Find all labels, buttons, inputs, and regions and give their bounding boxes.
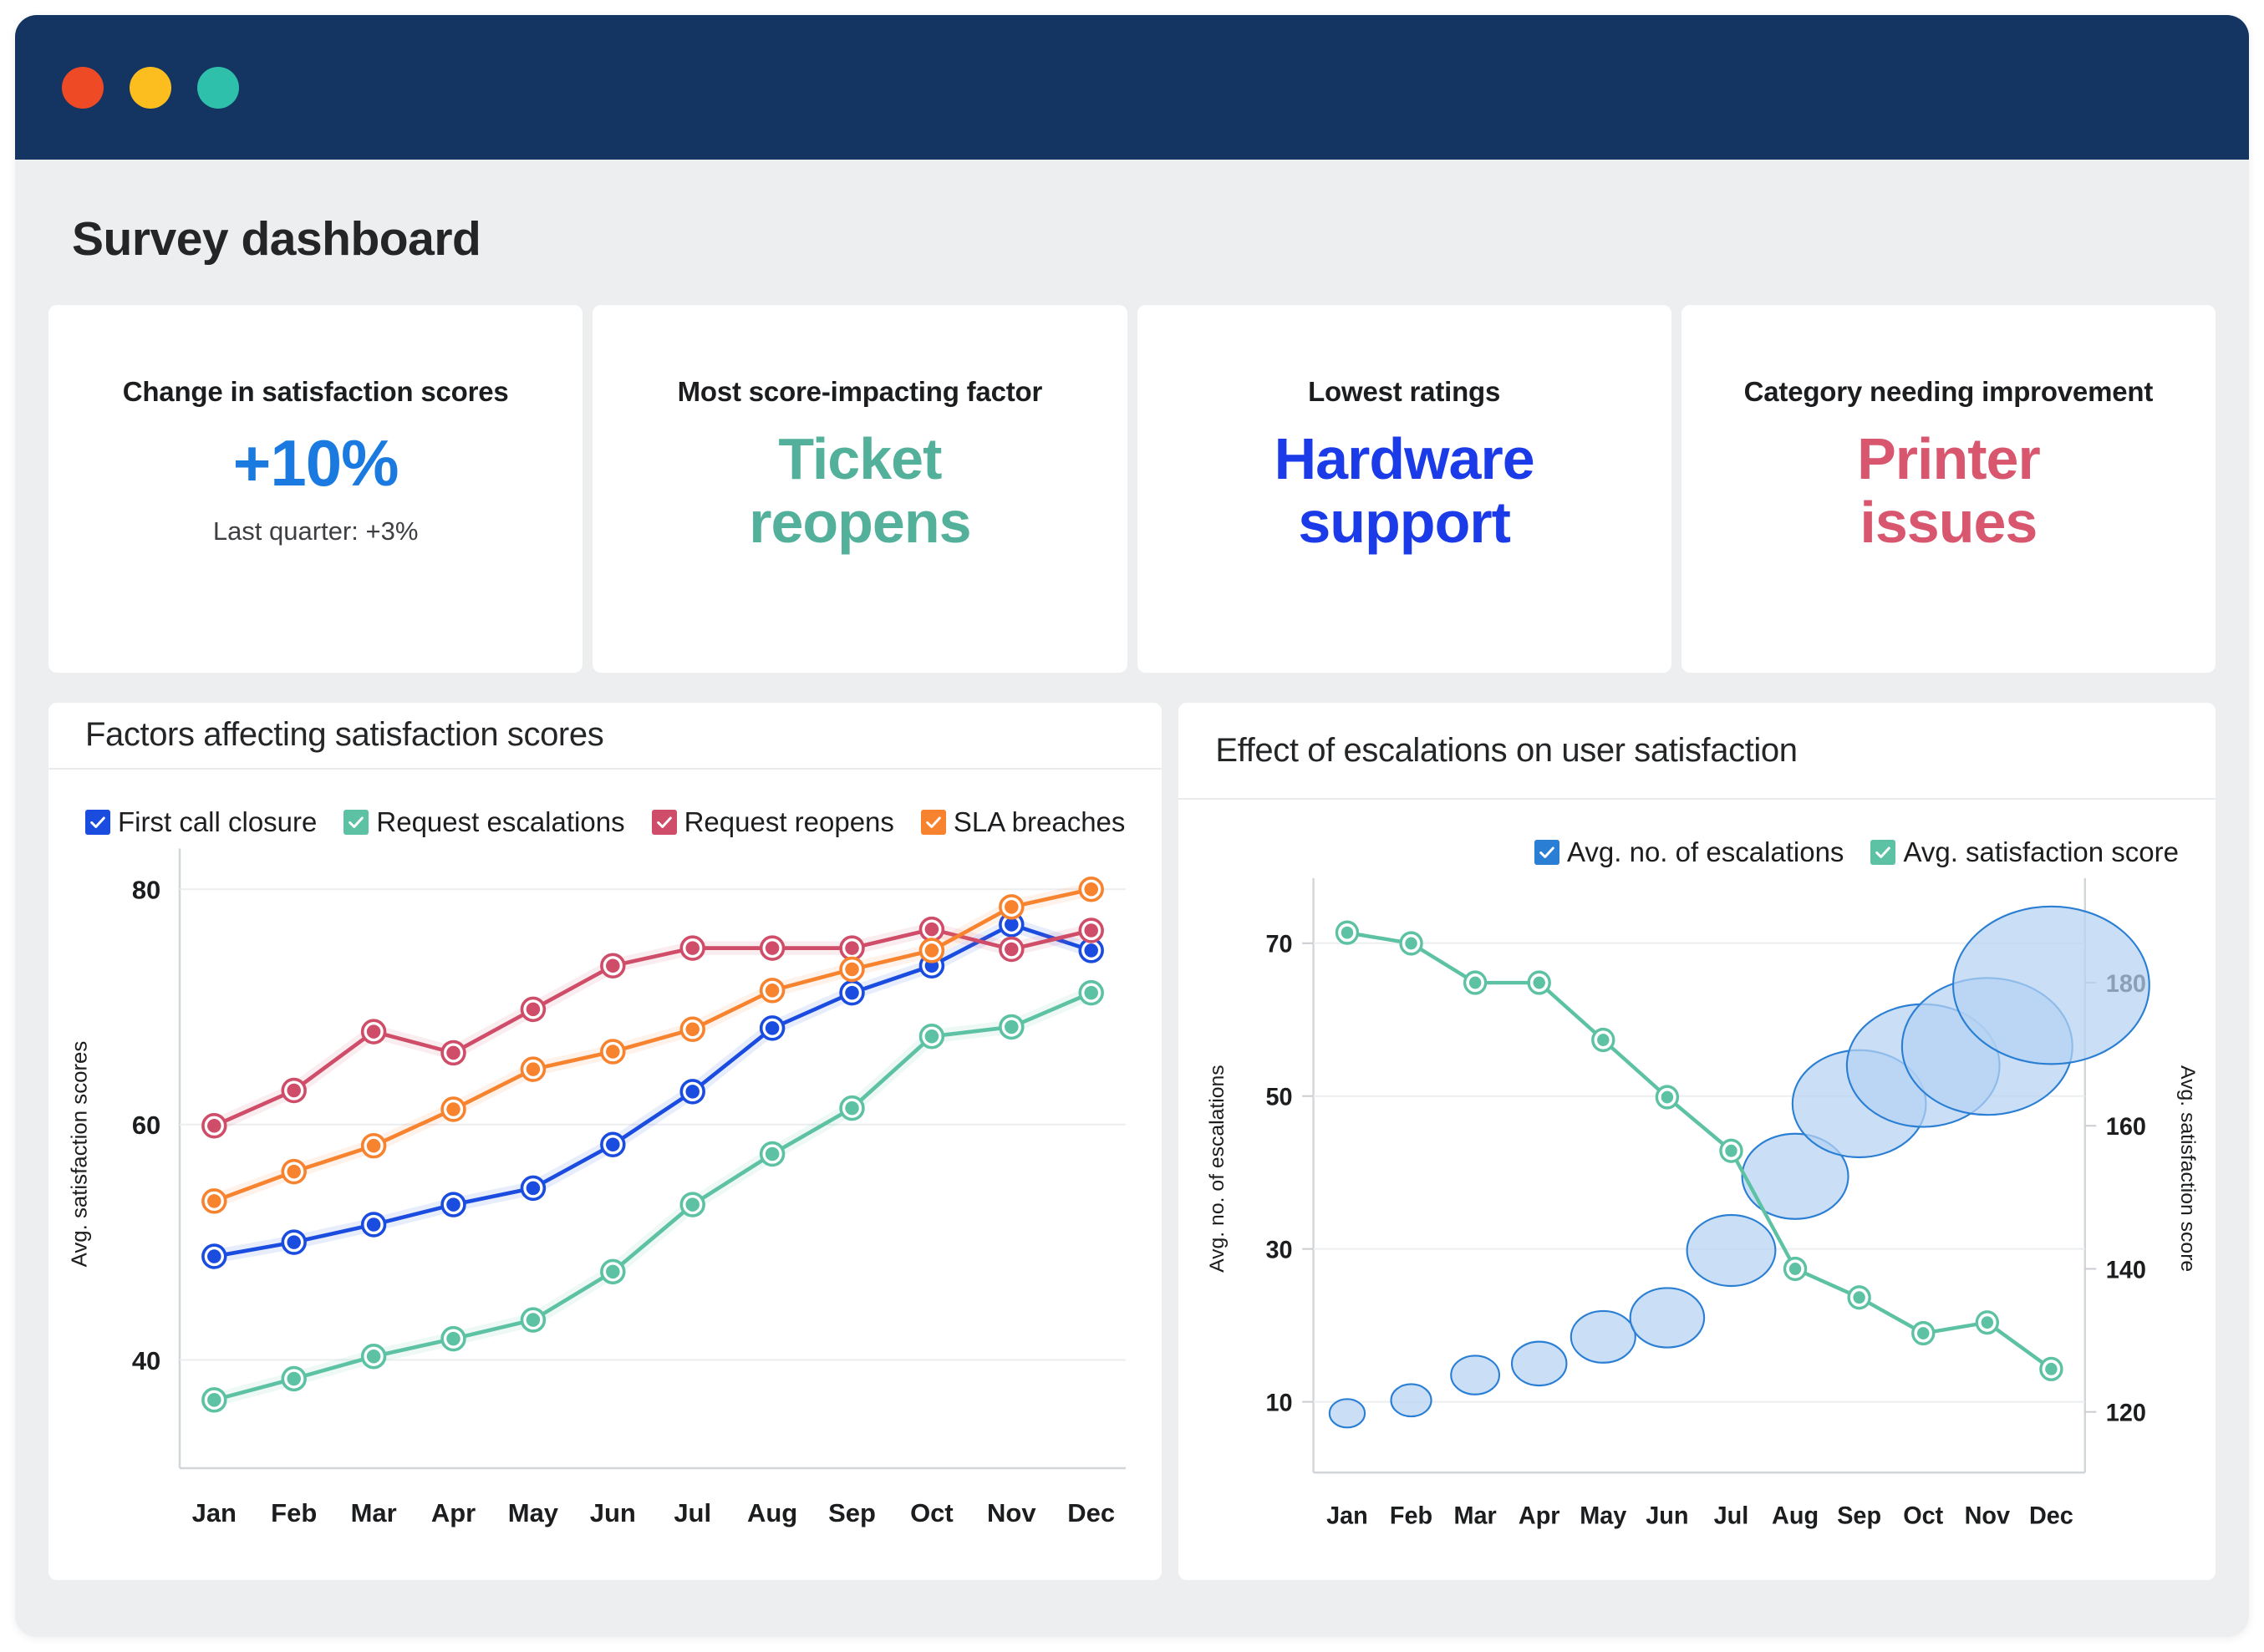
checkbox-checked-icon[interactable]	[1534, 840, 1559, 865]
x-axis-tick-label: Oct	[1904, 1502, 1944, 1529]
x-axis-tick-label: Jul	[674, 1498, 711, 1527]
data-point[interactable]	[287, 1083, 301, 1097]
kpi-value: Printer issues	[1819, 428, 2078, 554]
data-point[interactable]	[207, 1249, 221, 1263]
data-point[interactable]	[1084, 882, 1098, 897]
chart-card-effect-of-escalations: Effect of escalations on user satisfacti…	[1178, 703, 2216, 1580]
data-point[interactable]	[287, 1371, 301, 1385]
chart-title: Factors affecting satisfaction scores	[85, 716, 603, 754]
x-axis-tick-label: Oct	[910, 1498, 954, 1527]
chart-card-factors-affecting-satisfaction-scores: Factors affecting satisfaction scores Fi…	[48, 703, 1162, 1580]
y-axis-tick-label: 40	[132, 1346, 160, 1375]
bubble-data-point[interactable]	[1953, 907, 2150, 1065]
data-point[interactable]	[1084, 923, 1098, 938]
kpi-card-category-needing-improvement[interactable]: Category needing improvement Printer iss…	[1681, 305, 2216, 673]
x-axis-tick-label: Sep	[828, 1498, 876, 1527]
data-point[interactable]	[1005, 917, 1019, 932]
kpi-card-change-in-satisfaction-scores[interactable]: Change in satisfaction scores +10% Last …	[48, 305, 583, 673]
bubble-data-point[interactable]	[1391, 1384, 1432, 1416]
legend-item-label: Request escalations	[376, 806, 624, 838]
checkbox-checked-icon[interactable]	[85, 810, 110, 835]
data-point[interactable]	[446, 1102, 460, 1116]
legend-item-sla-breaches[interactable]: SLA breaches	[921, 806, 1125, 838]
kpi-subtext: Last quarter: +3%	[213, 516, 419, 546]
chart-legend-right: Avg. no. of escalationsAvg. satisfaction…	[1178, 800, 2216, 868]
y-axis-tick-label: 50	[1266, 1083, 1293, 1111]
data-point[interactable]	[1084, 943, 1098, 958]
data-point[interactable]	[766, 941, 780, 955]
chart-legend-left: First call closureRequest escalationsReq…	[48, 770, 1162, 838]
x-axis-tick-label: Dec	[2029, 1502, 2073, 1529]
kpi-value: +10%	[233, 428, 399, 498]
data-point[interactable]	[527, 1181, 541, 1195]
y-axis-title: Avg. satisfaction scores	[68, 1040, 91, 1267]
data-point[interactable]	[207, 1393, 221, 1407]
y-axis-tick-label: 70	[1266, 930, 1293, 958]
y2-axis-tick-label: 120	[2106, 1399, 2146, 1426]
bubble-data-point[interactable]	[1330, 1399, 1365, 1427]
data-point[interactable]	[925, 923, 939, 937]
checkbox-checked-icon[interactable]	[343, 810, 369, 835]
legend-item-label: Request reopens	[684, 806, 894, 838]
data-point[interactable]	[367, 1350, 381, 1364]
data-point[interactable]	[207, 1194, 221, 1208]
minimize-window-button[interactable]	[130, 67, 171, 109]
data-point[interactable]	[766, 984, 780, 998]
chart-title: Effect of escalations on user satisfacti…	[1215, 732, 1797, 770]
x-axis-tick-label: May	[508, 1498, 559, 1527]
x-axis-tick-label: Feb	[1390, 1502, 1432, 1529]
close-window-button[interactable]	[62, 67, 104, 109]
x-axis-tick-label: Mar	[1454, 1502, 1497, 1529]
data-point[interactable]	[606, 958, 620, 973]
data-point[interactable]	[685, 1085, 700, 1099]
x-axis-tick-label: Aug	[747, 1498, 797, 1527]
data-point[interactable]	[1005, 942, 1019, 956]
data-point[interactable]	[1341, 927, 1353, 939]
x-axis-tick-label: Jan	[192, 1498, 237, 1527]
legend-item-avg-no-of-escalations[interactable]: Avg. no. of escalations	[1534, 836, 1844, 868]
data-point[interactable]	[766, 1147, 780, 1161]
x-axis-tick-label: Jan	[1327, 1502, 1369, 1529]
data-point[interactable]	[1789, 1263, 1801, 1275]
data-point[interactable]	[925, 1029, 939, 1044]
checkbox-checked-icon[interactable]	[652, 810, 677, 835]
data-point[interactable]	[1084, 986, 1098, 1000]
data-point[interactable]	[1005, 900, 1019, 914]
legend-item-avg-satisfaction-score[interactable]: Avg. satisfaction score	[1870, 836, 2179, 868]
data-point[interactable]	[606, 1137, 620, 1151]
kpi-value: Hardware support	[1237, 428, 1571, 554]
data-point[interactable]	[367, 1139, 381, 1153]
chart-row: Factors affecting satisfaction scores Fi…	[48, 703, 2216, 1580]
x-axis-tick-label: Nov	[987, 1498, 1036, 1527]
x-axis-tick-label: Apr	[431, 1498, 476, 1527]
kpi-label: Lowest ratings	[1308, 376, 1500, 408]
data-point[interactable]	[1597, 1034, 1609, 1046]
data-point[interactable]	[446, 1332, 460, 1346]
y2-axis-tick-label: 160	[2106, 1113, 2146, 1141]
data-point[interactable]	[845, 986, 859, 1000]
data-point[interactable]	[527, 1062, 541, 1076]
legend-item-request-escalations[interactable]: Request escalations	[343, 806, 624, 838]
data-point[interactable]	[1854, 1291, 1865, 1304]
data-point[interactable]	[606, 1264, 620, 1278]
bubble-data-point[interactable]	[1512, 1342, 1566, 1386]
line-series-first-call-closure	[214, 924, 1091, 1256]
line-chart-plot-area: 406080Avg. satisfaction scoresJanFebMarA…	[48, 838, 1162, 1580]
line-glow	[214, 924, 1091, 1256]
bubble-data-point[interactable]	[1631, 1288, 1704, 1347]
app-window: Survey dashboard Change in satisfaction …	[15, 15, 2249, 1637]
y-axis-tick-label: 10	[1266, 1389, 1293, 1416]
data-point[interactable]	[1469, 977, 1481, 989]
bubble-data-point[interactable]	[1452, 1355, 1500, 1394]
data-point[interactable]	[367, 1024, 381, 1039]
x-axis-tick-label: Apr	[1519, 1502, 1560, 1529]
kpi-card-lowest-ratings[interactable]: Lowest ratings Hardware support	[1137, 305, 1671, 673]
x-axis-tick-label: Feb	[271, 1498, 317, 1527]
data-point[interactable]	[925, 943, 939, 958]
data-point[interactable]	[1726, 1145, 1737, 1157]
legend-item-label: First call closure	[118, 806, 317, 838]
data-point[interactable]	[446, 1045, 460, 1060]
x-axis-tick-label: Jul	[1714, 1502, 1749, 1529]
data-point[interactable]	[287, 1235, 301, 1249]
y-axis-tick-label: 60	[132, 1111, 160, 1140]
y2-axis-tick-label: 140	[2106, 1256, 2146, 1283]
data-point[interactable]	[685, 941, 700, 955]
x-axis-tick-label: Jun	[590, 1498, 636, 1527]
data-point[interactable]	[1534, 977, 1545, 989]
data-point[interactable]	[207, 1119, 221, 1133]
x-axis-tick-label: Jun	[1646, 1502, 1689, 1529]
data-point[interactable]	[845, 962, 859, 976]
checkbox-checked-icon[interactable]	[921, 810, 946, 835]
data-point[interactable]	[1005, 1019, 1019, 1034]
bubble-data-point[interactable]	[1571, 1311, 1636, 1363]
kpi-label: Change in satisfaction scores	[123, 376, 509, 408]
y-axis-title: Avg. no. of escalations	[1207, 1065, 1229, 1273]
checkbox-checked-icon[interactable]	[1870, 840, 1895, 865]
bubble-data-point[interactable]	[1687, 1215, 1776, 1286]
legend-item-label: Avg. no. of escalations	[1567, 836, 1844, 868]
data-point[interactable]	[287, 1165, 301, 1179]
data-point[interactable]	[1982, 1316, 1993, 1329]
data-point[interactable]	[766, 1021, 780, 1035]
data-point[interactable]	[685, 1197, 700, 1212]
y2-axis-title: Avg. satisfaction score	[2177, 1065, 2200, 1272]
x-axis-tick-label: May	[1580, 1502, 1628, 1529]
chart-header: Effect of escalations on user satisfacti…	[1178, 703, 2216, 800]
kpi-card-most-score-impacting-factor[interactable]: Most score-impacting factor Ticket reope…	[593, 305, 1127, 673]
y-axis-tick-label: 30	[1266, 1236, 1293, 1263]
window-titlebar	[15, 15, 2249, 160]
legend-item-request-reopens[interactable]: Request reopens	[652, 806, 894, 838]
legend-item-label: Avg. satisfaction score	[1903, 836, 2179, 868]
x-axis-tick-label: Aug	[1772, 1502, 1819, 1529]
data-point[interactable]	[845, 941, 859, 955]
data-point[interactable]	[2046, 1363, 2058, 1375]
data-point[interactable]	[1406, 938, 1417, 950]
x-axis-tick-label: Mar	[351, 1498, 397, 1527]
data-point[interactable]	[446, 1197, 460, 1212]
data-point[interactable]	[1661, 1091, 1673, 1104]
data-point[interactable]	[606, 1045, 620, 1059]
legend-item-first-call-closure[interactable]: First call closure	[85, 806, 317, 838]
legend-item-label: SLA breaches	[954, 806, 1125, 838]
kpi-label: Category needing improvement	[1744, 376, 2154, 408]
x-axis-tick-label: Nov	[1965, 1502, 2011, 1529]
data-point[interactable]	[685, 1022, 700, 1036]
data-point[interactable]	[527, 1002, 541, 1016]
y-axis-tick-label: 80	[132, 875, 160, 904]
maximize-window-button[interactable]	[197, 67, 239, 109]
dashboard-content: Survey dashboard Change in satisfaction …	[15, 211, 2249, 1580]
page-title: Survey dashboard	[72, 211, 2216, 267]
kpi-card-row: Change in satisfaction scores +10% Last …	[48, 305, 2216, 673]
data-point[interactable]	[527, 1313, 541, 1327]
data-point[interactable]	[1917, 1327, 1929, 1339]
x-axis-tick-label: Sep	[1838, 1502, 1882, 1529]
data-point[interactable]	[367, 1217, 381, 1232]
bubble-chart-plot-area: 10305070120140160180Avg. no. of escalati…	[1178, 868, 2216, 1580]
chart-header: Factors affecting satisfaction scores	[48, 703, 1162, 770]
kpi-value: Ticket reopens	[722, 428, 998, 554]
x-axis-tick-label: Dec	[1067, 1498, 1115, 1527]
kpi-label: Most score-impacting factor	[678, 376, 1043, 408]
data-point[interactable]	[845, 1101, 859, 1116]
